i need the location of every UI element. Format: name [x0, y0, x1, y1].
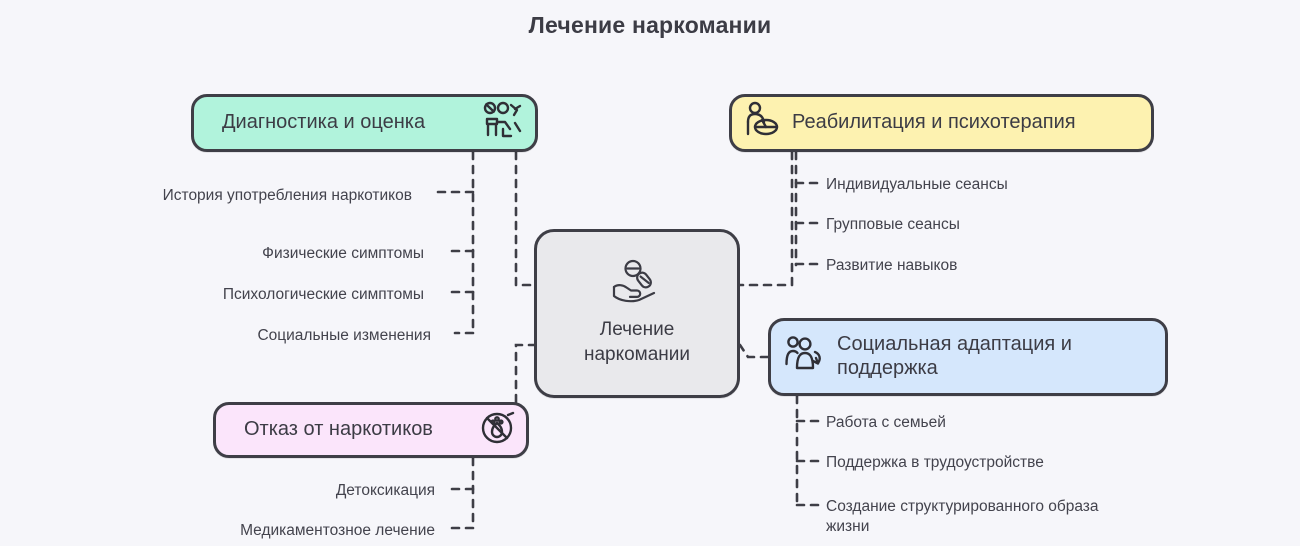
subitem-socialnaya-3: Создание структурированного образа жизни [826, 497, 1146, 537]
subitem-reabilitaciya-2: Групповые сеансы [826, 215, 1126, 235]
connector-center-reabilitaciya [740, 152, 792, 285]
branch-node-otkaz[interactable]: Отказ от наркотиков [213, 402, 529, 458]
subitem-reabilitaciya-3: Развитие навыков [826, 256, 1126, 276]
center-node-label: Лечение наркомании [584, 318, 690, 367]
people-arrow-icon [783, 334, 827, 381]
page-title: Лечение наркомании [0, 12, 1300, 39]
branch-node-otkaz-label: Отказ от наркотиков [244, 418, 433, 442]
branch-node-reabilitaciya[interactable]: Реабилитация и психотерапия [729, 94, 1154, 152]
subitem-diagnostika-2: Физические симптомы [120, 244, 424, 264]
subitem-diagnostika-3: Психологические симптомы [120, 285, 424, 305]
therapy-person-icon [742, 100, 782, 147]
hand-pills-icon [606, 259, 668, 312]
connector-center-diagnostika [516, 152, 534, 285]
center-node[interactable]: Лечение наркомании [534, 229, 740, 398]
branch-node-reabilitaciya-label: Реабилитация и психотерапия [792, 111, 1076, 135]
subitem-diagnostika-4: Социальные изменения [120, 326, 431, 346]
branch-node-socialnaya-label: Социальная адаптация и поддержка [837, 333, 1072, 380]
mindmap-canvas: Лечение наркомании [0, 0, 1300, 546]
branch-node-socialnaya[interactable]: Социальная адаптация и поддержка [768, 318, 1168, 396]
no-drugs-icon [478, 408, 518, 453]
branch-node-diagnostika[interactable]: Диагностика и оценка [191, 94, 538, 152]
branch-node-diagnostika-label: Диагностика и оценка [222, 111, 425, 135]
subitem-reabilitaciya-1: Индивидуальные сеансы [826, 175, 1126, 195]
connector-center-socialnaya [740, 345, 768, 357]
subitem-otkaz-1: Детоксикация [130, 481, 435, 501]
subitem-socialnaya-1: Работа с семьей [826, 413, 1126, 433]
subitem-socialnaya-2: Поддержка в трудоустройстве [826, 453, 1126, 473]
subitem-diagnostika-1: История употребления наркотиков [100, 186, 412, 206]
person-assessment-icon [481, 101, 525, 146]
subitem-otkaz-2: Медикаментозное лечение [120, 521, 435, 541]
connector-center-otkaz [516, 345, 534, 402]
